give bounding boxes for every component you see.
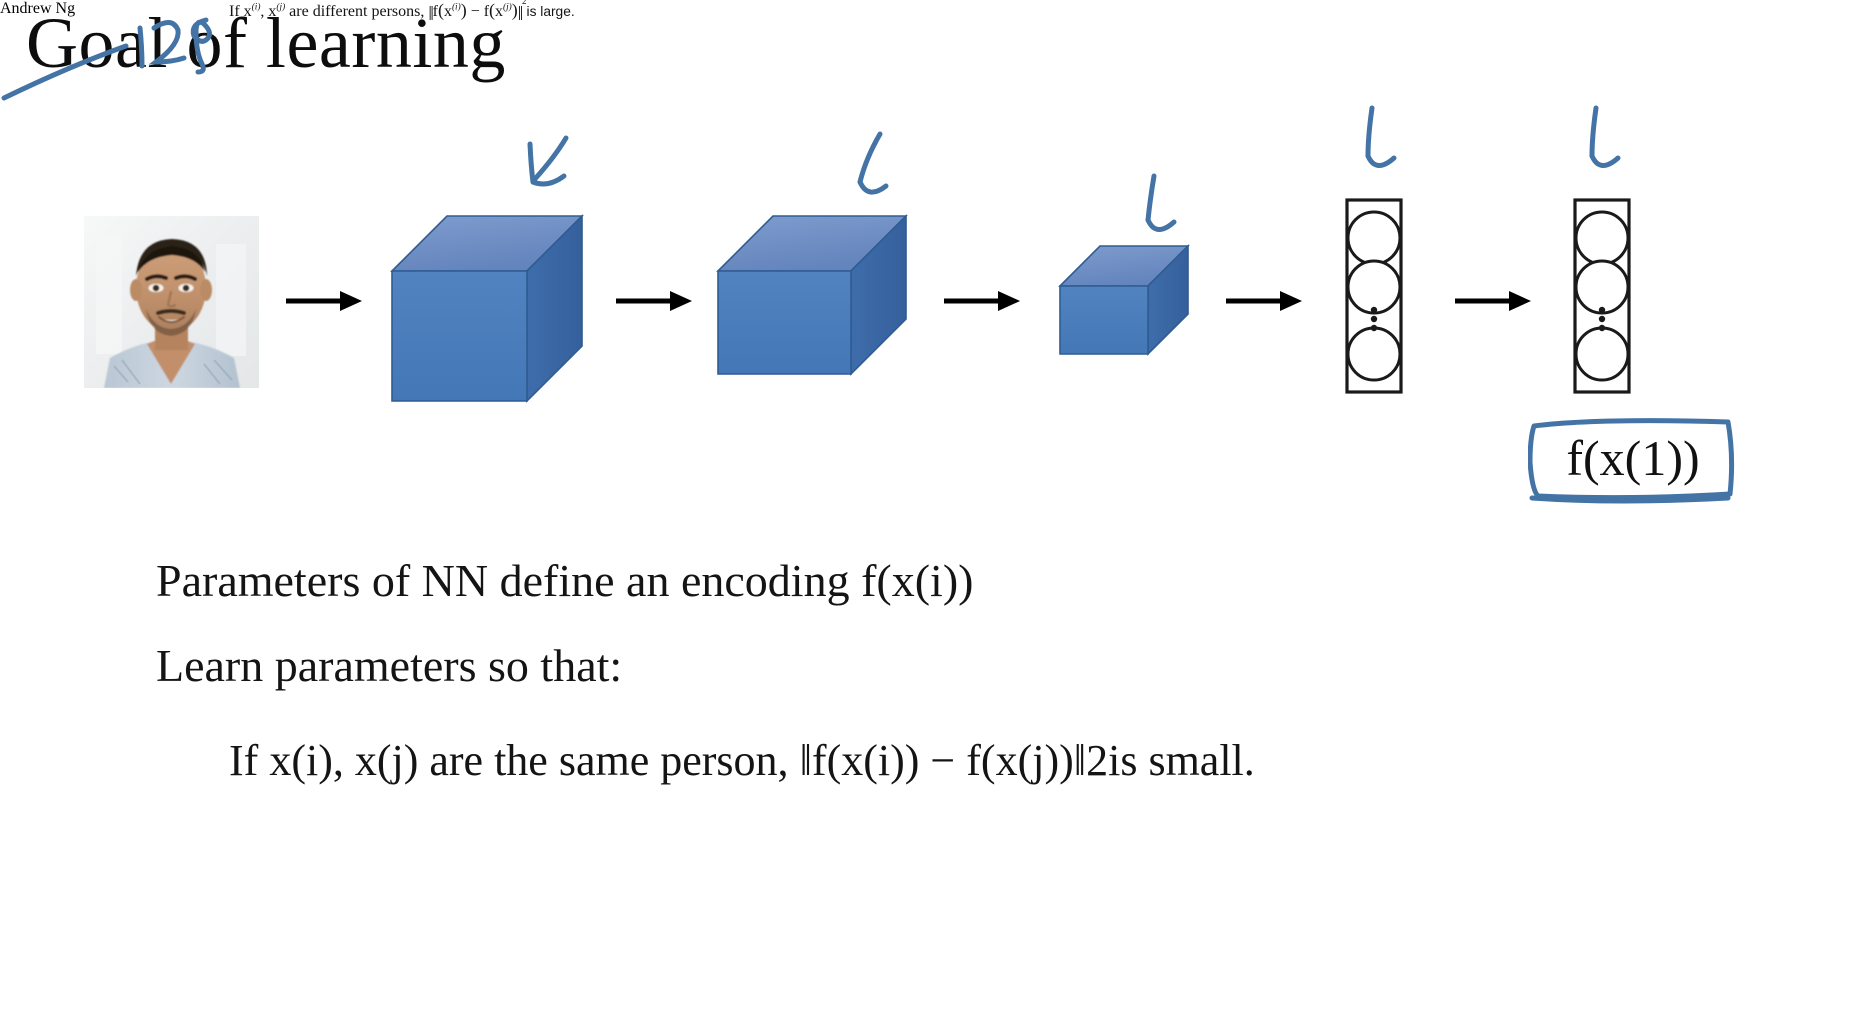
fx1-open-paren: ( (1583, 429, 1600, 487)
flow-arrow-5 (1455, 288, 1533, 314)
same-f1-open: ( (827, 736, 842, 785)
same-minus: − (919, 736, 966, 785)
ink-arrow-1 (508, 132, 578, 202)
same-f2-sup: (j) (1018, 736, 1060, 785)
same-suffix: is small. (1108, 736, 1255, 785)
parameters-close-paren: ) (958, 555, 973, 606)
conv-volume-1 (392, 216, 582, 401)
same-f1-sup: (i) (863, 736, 905, 785)
same-f2: f (966, 736, 981, 785)
diff-f2-sup: (j) (503, 3, 512, 13)
diff-norm-open: ‖ (428, 4, 432, 25)
conv-volume-2 (718, 216, 906, 374)
same-f1-close: ) (905, 736, 920, 785)
same-comma: , (333, 736, 355, 785)
parameters-math-x: x (892, 555, 915, 606)
diff-f2-x: x (495, 3, 503, 20)
flow-arrow-2 (616, 288, 694, 314)
fx1-superscript: (1) (1625, 429, 1683, 487)
text-condition-different-person: If x(i), x(j) are different persons, ‖f(… (229, 0, 575, 22)
flow-arrow-4 (1226, 288, 1304, 314)
fully-connected-layer-1 (1345, 198, 1403, 394)
same-f2-close: ) (1059, 736, 1074, 785)
same-var2-sup: (j) (377, 736, 419, 785)
parameters-open-paren: ( (876, 555, 891, 606)
parameters-math-f: f (861, 555, 876, 606)
parameters-prefix: Parameters of NN define an encoding (156, 555, 861, 606)
diff-power: 2 (522, 0, 526, 6)
flow-arrow-3 (944, 288, 1022, 314)
slide-canvas: Goal of learning (0, 0, 1850, 1032)
fully-connected-layer-2 (1573, 198, 1631, 394)
same-f2-x: x (996, 736, 1018, 785)
ink-dimension-note-128 (0, 0, 230, 110)
diff-f1-x: x (444, 3, 452, 20)
same-var1-sup: (i) (291, 736, 333, 785)
text-condition-same-person: If x(i), x(j) are the same person, ‖f(x(… (229, 735, 1255, 786)
ink-arrow-2 (838, 130, 898, 210)
parameters-superscript: (i) (915, 555, 958, 606)
fx1-close-paren: ) (1683, 429, 1700, 487)
diff-prefix: If (229, 3, 244, 20)
face-photo-thumbnail (84, 216, 259, 388)
ink-arrow-5 (1572, 104, 1626, 184)
same-f1: f (812, 736, 827, 785)
encoding-output-label: f(x(1)) (1528, 412, 1738, 504)
same-f2-open: ( (981, 736, 996, 785)
same-power: 2 (1086, 736, 1108, 785)
diff-var2-sup: (j) (276, 3, 285, 13)
diff-norm-close: ‖ (518, 4, 522, 25)
ink-arrow-3 (1128, 172, 1182, 248)
same-f1-x: x (841, 736, 863, 785)
encoding-output-annotation: f(x(1)) (1528, 412, 1738, 504)
ink-arrow-4 (1348, 104, 1402, 184)
flow-arrow-1 (286, 288, 364, 314)
text-learn-parameters: Learn parameters so that: (156, 639, 622, 692)
text-parameters-encoding: Parameters of NN define an encoding f(x(… (156, 554, 973, 607)
same-prefix: If (229, 736, 269, 785)
diff-suffix: is large. (527, 4, 575, 19)
diff-var1: x (244, 3, 252, 20)
same-middle: are the same person, (418, 736, 799, 785)
same-norm-close: ‖ (1074, 736, 1086, 785)
fx1-f: f (1566, 429, 1583, 487)
diff-minus: − (467, 3, 484, 20)
same-var1: x (269, 736, 291, 785)
conv-volume-3 (1060, 246, 1188, 354)
same-var2: x (355, 736, 377, 785)
diff-f1-sup: (i) (452, 3, 461, 13)
fx1-x: x (1600, 429, 1625, 487)
diff-middle: are different persons, (285, 3, 428, 20)
diff-f2-close: ) (512, 0, 518, 20)
same-norm-open: ‖ (800, 736, 812, 785)
